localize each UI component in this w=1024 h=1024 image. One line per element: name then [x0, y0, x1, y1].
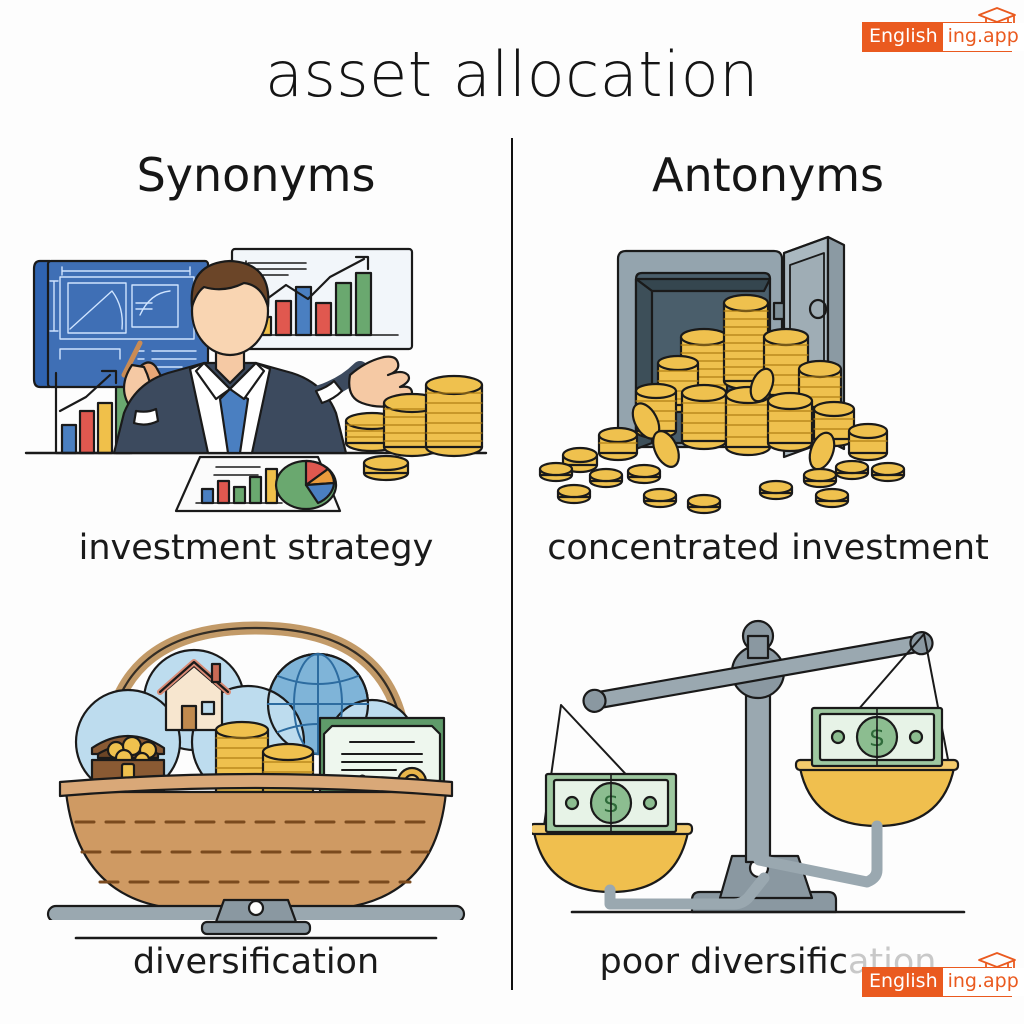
brand-logo-bottom[interactable]: English ing.app: [862, 967, 1012, 997]
logo-box: English ing.app: [862, 22, 1012, 52]
label-text-visible: poor diversific: [600, 942, 848, 982]
scale-stand-diversification: [20, 900, 492, 942]
entry-label-diversification: diversification: [0, 942, 512, 982]
entry-label-concentrated-investment: concentrated investment: [512, 528, 1024, 568]
worksheet-page: asset allocation Synonyms Antonyms: [0, 0, 1024, 1024]
column-header-antonyms: Antonyms: [528, 148, 1008, 202]
illustration-investment-strategy: [20, 225, 492, 515]
logo-text-ingapp: ing.app: [943, 23, 1024, 51]
column-header-synonyms: Synonyms: [16, 148, 496, 202]
logo-box: English ing.app: [862, 967, 1012, 997]
logo-text-english: English: [863, 23, 943, 51]
logo-text-english: English: [863, 968, 943, 996]
illustration-concentrated-investment: [532, 225, 1004, 515]
brand-logo-top[interactable]: English ing.app: [862, 22, 1012, 52]
illustration-diversification: [20, 610, 492, 920]
logo-text-ingapp: ing.app: [943, 968, 1024, 996]
illustration-poor-diversification: $ $: [532, 610, 1004, 920]
entry-label-investment-strategy: investment strategy: [0, 528, 512, 568]
